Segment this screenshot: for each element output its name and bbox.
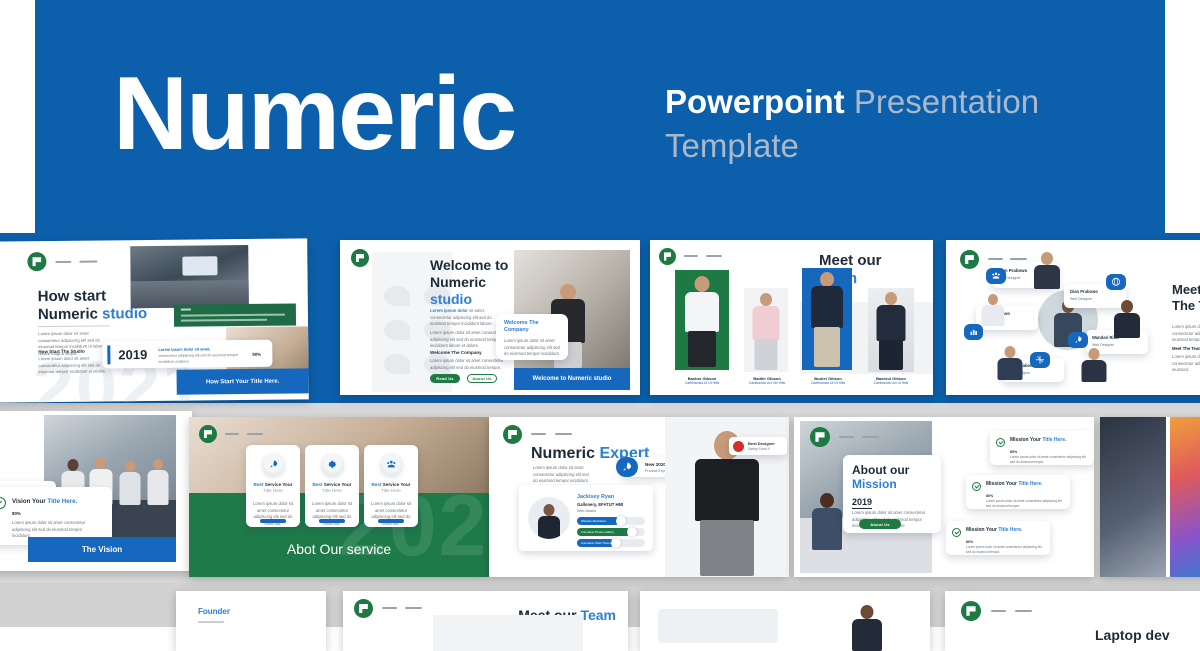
hero-subtitle-bold: Powerpoint <box>665 83 845 120</box>
flag-logo <box>351 249 369 267</box>
member-avatar-7 <box>1112 300 1142 338</box>
year-stat-card: 2019 Lorem ipsum dolor sit amet, consect… <box>102 340 272 369</box>
founder-title: Founder <box>198 607 230 616</box>
team-member-2[interactable] <box>744 288 788 376</box>
card-title: Best Service Your Title Here <box>369 482 413 494</box>
slide-meet-our-team[interactable]: Meet our Team <box>650 240 933 395</box>
nav-label-2 <box>1010 258 1027 260</box>
card-title-blue: Best <box>254 482 264 487</box>
member-role: Cartfinanzia Ut Ut Hills <box>668 381 736 386</box>
card-title: Best Service Your Title Here <box>310 482 354 494</box>
member-avatar-5 <box>996 346 1024 380</box>
slide-banner-label: Abot Our service <box>189 541 489 557</box>
about-us-label: About Us <box>870 522 889 527</box>
profile-sub: Web Master <box>577 509 596 515</box>
avatar <box>528 497 570 539</box>
laptop-photo <box>1100 417 1166 577</box>
slide-banner-label: How Start Your Title Here. <box>206 378 279 385</box>
slide-banner: How Start Your Title Here. <box>177 368 309 394</box>
profile-card: Jackisey Ryan Gallonery, EFATUT HMI Web … <box>519 485 653 551</box>
card-title-blue: Title Here. <box>998 527 1022 533</box>
laptop-dev-title: Laptop dev <box>1095 627 1170 643</box>
nav-label-1 <box>988 258 1003 260</box>
color-swatch-photo <box>1170 417 1200 577</box>
member-role: Cardbanda Uct Ut Hills <box>858 381 924 386</box>
designer-badge: Best Designer Safety Short X <box>729 437 787 455</box>
slide-numeric-expert[interactable]: Numeric Expert Lorem ipsum dolor sit ame… <box>489 417 789 577</box>
slide-body: Lorem ipsum dolor sit amet consectetur a… <box>533 465 589 485</box>
nav-label-1 <box>991 610 1006 612</box>
service-card-3[interactable]: Best Service Your Title Here Lorem ipsum… <box>364 445 418 527</box>
slide-subbody: Lorem ipsum dolor sit amet consectetur a… <box>1172 354 1200 374</box>
slide-banner-label: Welcome to Numeric studio <box>533 376 612 382</box>
member-role: Cardbanda Uct Ver Hills <box>734 381 800 386</box>
ghost-shapes <box>433 615 583 651</box>
slide-title-line1: About our <box>852 463 909 477</box>
skill-label: Animation Phone Gallery <box>581 530 614 535</box>
slide-title-dark: Numeric <box>531 445 599 462</box>
member-name: Dian Prabowo <box>1070 289 1098 294</box>
person-photo <box>146 459 170 507</box>
card-pct: 80% <box>1010 450 1017 454</box>
slide-about-our-service[interactable]: 2021 Best Service Your Title Here Lorem … <box>189 417 489 577</box>
card-title-dark: Vision Your <box>12 498 47 505</box>
card-title: Best Service Your Title Here <box>251 482 295 494</box>
team-member-4[interactable] <box>868 288 914 376</box>
slide-laptop-preview[interactable] <box>1100 417 1200 577</box>
stat-year: 2019 <box>118 347 147 362</box>
nav-label-2 <box>862 436 879 438</box>
service-card-2[interactable]: Best Service Your Title Here Lorem ipsum… <box>305 445 359 527</box>
welcome-company-card: Welcome The Company Lorem ipsum dolor si… <box>496 314 568 360</box>
slide-title: Meet The T <box>1172 282 1200 315</box>
card-title-line2: Title Here <box>251 488 295 494</box>
slide-banner-label: The Vision <box>82 545 122 554</box>
card-title-rest: Service Your <box>264 482 293 487</box>
badge-title: Best Designer <box>748 441 775 446</box>
card-row <box>658 609 778 643</box>
nav-label-1 <box>684 255 698 257</box>
rocket-icon <box>262 453 285 476</box>
card-title-dark: Mission Your <box>986 481 1018 487</box>
person-photo <box>682 276 722 368</box>
card-title-rest: Service Your <box>323 482 352 487</box>
stat-body: consectetur adipiscing elit sed do eiusm… <box>158 353 246 365</box>
mission-card-3: Mission Your Title Here. 80% Lorem ipsum… <box>946 521 1050 555</box>
flag-logo <box>659 248 676 265</box>
card-title-dark: Mission Your <box>1010 437 1042 443</box>
flag-logo <box>27 252 46 271</box>
badge-sub: Safety Short X <box>748 447 770 452</box>
slide-subbody: Lorem ipsum dolor sit amet consectetur a… <box>430 358 506 371</box>
check-icon <box>0 497 6 509</box>
slide-meet-the-team-network[interactable]: Dian Prabowo Web Designer Dian Prabowo W… <box>946 240 1200 395</box>
card-body: Lorem ipsum dolor sit amet consectetur a… <box>966 545 1042 555</box>
flag-logo <box>503 425 522 444</box>
slide-title-line1: Meet <box>1172 282 1200 298</box>
check-icon <box>972 482 981 491</box>
member-photo <box>744 288 788 372</box>
card-title: Mission Your Title Here. <box>966 527 1046 533</box>
card-title-blue: Best <box>372 482 382 487</box>
profile-name: Jackisey Ryan <box>577 494 614 500</box>
card-title-rest: Service Your <box>382 482 411 487</box>
nav-label-1 <box>225 433 239 435</box>
slide-body: Lorem ipsum dolor sit amet consectetur a… <box>1172 324 1200 344</box>
mission-card-2: Mission Your Title Here. 80% Lorem ipsum… <box>966 475 1070 509</box>
person-photo <box>808 272 846 368</box>
card-title: Mission Your Title Here. <box>986 481 1066 487</box>
card-title-blue: Title Here. <box>47 498 77 505</box>
globe-icon <box>1106 274 1126 290</box>
member-photo <box>802 268 852 370</box>
people-icon <box>380 453 403 476</box>
card-pct: 80% <box>966 540 973 544</box>
member-caption-3: Budrel Gibson Cartfinanzia Ut Ut Hills <box>795 376 861 386</box>
styles-note <box>174 303 296 326</box>
nav-label-2 <box>1015 610 1032 612</box>
team-member-1[interactable] <box>675 270 729 376</box>
snowflake-icon <box>1030 352 1050 368</box>
member-avatar-8 <box>980 294 1006 326</box>
nav-label-2 <box>555 433 572 435</box>
slide-body-2: Lorem ipsum dolor sit amet consectetur a… <box>430 330 506 350</box>
card-title-line2: Title Here <box>369 488 413 494</box>
person-photo <box>850 605 884 651</box>
conference-photo <box>130 245 249 308</box>
nav-label-2 <box>706 255 722 257</box>
slide-team-photo-partial[interactable] <box>640 591 930 651</box>
flag-logo <box>354 599 373 618</box>
slide-subbody: Lorem ipsum dolor sit amet consectetur a… <box>38 355 110 375</box>
card-body: Lorem ipsum dolor sit amet consectetur a… <box>252 501 294 527</box>
team-member-3[interactable] <box>802 268 852 376</box>
stat-value: 80% <box>252 352 261 357</box>
person-photo <box>118 461 142 507</box>
about-us-button[interactable]: About Us <box>467 374 497 383</box>
slide-banner: The Vision <box>28 537 176 562</box>
mission-main-card: About our Mission 2019 Lorem ipsum dolor… <box>843 455 941 533</box>
slide-subheading: Meet The Team <box>1172 346 1200 351</box>
card-title: Vision Your Title Here. <box>12 498 77 505</box>
about-us-label: About Us <box>472 376 491 381</box>
slide-banner: Welcome to Numeric studio <box>514 368 630 390</box>
card-title-line2: Company <box>504 327 529 333</box>
card-pct: 80% <box>986 494 993 498</box>
chart-icon <box>964 324 983 340</box>
check-icon <box>996 438 1005 447</box>
slide-meet-our-team-partial[interactable]: Meet our Team <box>343 591 628 651</box>
card-body: Lorem ipsum dolor sit amet consectetur a… <box>986 499 1062 509</box>
slide-the-vision[interactable]: Title Here. Lorem ipsum dolor sit amet c… <box>0 411 192 571</box>
slide-how-start[interactable]: 2021 How start Numeric studio Lorem ipsu… <box>0 238 309 402</box>
card-title-line2: Title Here <box>310 488 354 494</box>
stat-lead: Lorem ipsum dolor sit amet, <box>158 346 253 352</box>
rocket-icon <box>1068 332 1088 348</box>
divider <box>38 325 110 327</box>
card-title-line1: Welcome The <box>504 320 539 326</box>
slide-title-blue: Team <box>580 607 616 623</box>
slide-title-line2: The T <box>1172 298 1200 314</box>
card-body: Lorem ipsum dolor sit amet consectetur a… <box>311 501 353 527</box>
slide-body-lead: Lorem ipsum dolor sit amet, consectetur … <box>430 308 506 328</box>
nav-label-1 <box>839 436 854 438</box>
slide-welcome[interactable]: Welcome to Numeric studio Lorem ipsum do… <box>340 240 640 395</box>
skill-bar-1: Website Illustration <box>577 517 645 525</box>
member-caption-2: Badhir Gibson Cardbanda Uct Ver Hills <box>734 376 800 386</box>
flag-logo <box>961 601 981 621</box>
nav-label-1 <box>55 261 71 263</box>
people-icon <box>986 268 1006 284</box>
about-us-button[interactable]: About Us <box>859 519 901 529</box>
poster-canvas: Numeric Powerpoint Presentation Template… <box>0 0 1200 627</box>
member-photo <box>868 288 914 372</box>
member-role: Cartfinanzia Ut Ut Hills <box>795 381 861 386</box>
person-photo <box>810 493 844 551</box>
skill-label: Animation Web Theme <box>581 541 611 546</box>
card-body: Lorem ipsum dolor sit amet consectetur a… <box>1010 455 1086 465</box>
slide-title-line2: Mission <box>852 477 909 491</box>
gear-icon <box>321 453 344 476</box>
person-photo <box>750 293 782 371</box>
hero-subtitle: Powerpoint Presentation Template <box>665 80 1115 167</box>
pill-title: New 2020 <box>645 462 666 467</box>
member-caption-1: Bashar Gibson Cartfinanzia Ut Ut Hills <box>668 376 736 386</box>
slide-gallery: 2021 How start Numeric studio Lorem ipsu… <box>0 233 1200 627</box>
slide-title: About our Mission <box>852 463 909 492</box>
card-body: Lorem ipsum dolor sit amet consectetur a… <box>370 501 412 527</box>
skill-bar-3: Animation Web Theme <box>577 539 645 547</box>
flag-logo <box>810 427 830 447</box>
rocket-icon <box>616 457 638 477</box>
slide-about-our-mission[interactable]: About our Mission 2019 Lorem ipsum dolor… <box>794 417 1094 577</box>
nav-label-2 <box>79 261 97 263</box>
person-photo <box>874 292 908 371</box>
service-card-1[interactable]: Best Service Your Title Here Lorem ipsum… <box>246 445 300 527</box>
flag-logo <box>960 250 979 269</box>
person-photo <box>537 504 561 539</box>
nav-label-2 <box>247 433 263 435</box>
card-pct: 80% <box>12 511 21 516</box>
skill-bar-2: Animation Phone Gallery <box>577 528 645 536</box>
card-body: Lorem ipsum dolor sit amet consectetur a… <box>504 338 560 358</box>
read-us-label: Read Us <box>436 376 453 381</box>
card-title-dark: Mission Your <box>966 527 998 533</box>
nav-label-2 <box>405 607 422 609</box>
member-avatar-6 <box>1080 348 1108 382</box>
nav-label-1 <box>531 433 546 435</box>
target-icon <box>733 441 744 452</box>
hero-banner: Numeric Powerpoint Presentation Template <box>35 0 1165 233</box>
mission-card-1: Mission Your Title Here. 80% Lorem ipsum… <box>990 431 1094 465</box>
card-title-blue: Title Here. <box>1018 481 1042 487</box>
read-us-button[interactable]: Read Us <box>430 374 460 383</box>
skill-label: Website Illustration <box>581 519 606 524</box>
flag-logo <box>199 425 217 443</box>
card-title-blue: Title Here. <box>1042 437 1066 443</box>
slide-founder-partial[interactable]: Founder <box>176 591 326 651</box>
mission-year: 2019 <box>852 497 872 509</box>
member-caption-4: Bashrul Gibson Cardbanda Uct Ut Hills <box>858 376 924 386</box>
body-lead-text: Lorem ipsum dolor <box>430 308 468 313</box>
slide-laptop-dev-partial[interactable]: Laptop dev <box>945 591 1200 651</box>
check-icon <box>952 528 961 537</box>
nav-label-1 <box>382 607 397 609</box>
member-photo <box>675 270 729 370</box>
card-title: Mission Your Title Here. <box>1010 437 1090 443</box>
member-role: Web Designer <box>1070 297 1092 302</box>
divider <box>198 621 224 623</box>
page-title: Numeric <box>113 62 515 166</box>
member-avatar-1 <box>1032 252 1062 288</box>
profile-role: Gallonery, EFATUT HMI <box>577 502 623 507</box>
card-title-blue: Best <box>313 482 323 487</box>
